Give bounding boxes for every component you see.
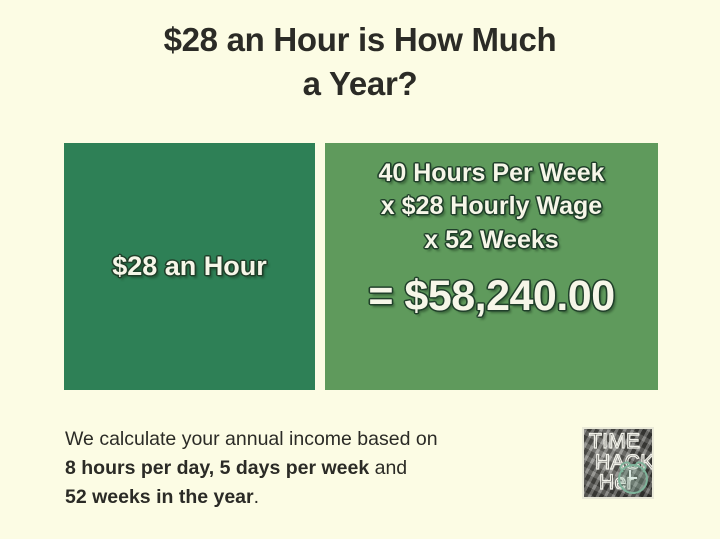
infographic-canvas: $28 an Hour is How Much a Year? $28 an H… [0, 0, 720, 539]
annual-salary-result: = $58,240.00 [368, 273, 614, 320]
hourly-rate-panel: $28 an Hour [64, 143, 315, 390]
footer-note: We calculate your annual income based on… [65, 425, 565, 512]
footer-line-3-tail: . [254, 486, 259, 508]
footer-line-2-tail: and [369, 457, 407, 479]
formula-line-weeks: x 52 Weeks [378, 224, 604, 257]
brand-logo: TIME HACK Her [582, 427, 654, 499]
brand-logo-line-1: TIME [589, 432, 649, 453]
footer-line-1: We calculate your annual income based on [65, 425, 565, 454]
calculation-formula: 40 Hours Per Week x $28 Hourly Wage x 52… [378, 157, 604, 257]
footer-line-2-bold: 8 hours per day, 5 days per week [65, 457, 369, 479]
formula-line-hourly-wage: x $28 Hourly Wage [378, 190, 604, 223]
calculation-panel: 40 Hours Per Week x $28 Hourly Wage x 52… [325, 143, 658, 390]
alarm-clock-icon [618, 464, 648, 494]
footer-line-3-bold: 52 weeks in the year [65, 486, 254, 508]
page-title: $28 an Hour is How Much a Year? [0, 18, 720, 106]
page-title-line-1: $28 an Hour is How Much [0, 18, 720, 62]
footer-line-2: 8 hours per day, 5 days per week and [65, 454, 565, 483]
hourly-rate-label: $28 an Hour [112, 252, 267, 282]
footer-line-3: 52 weeks in the year. [65, 483, 565, 512]
page-title-line-2: a Year? [0, 62, 720, 106]
calculation-panels: $28 an Hour 40 Hours Per Week x $28 Hour… [64, 143, 658, 390]
formula-line-hours-per-week: 40 Hours Per Week [378, 157, 604, 190]
